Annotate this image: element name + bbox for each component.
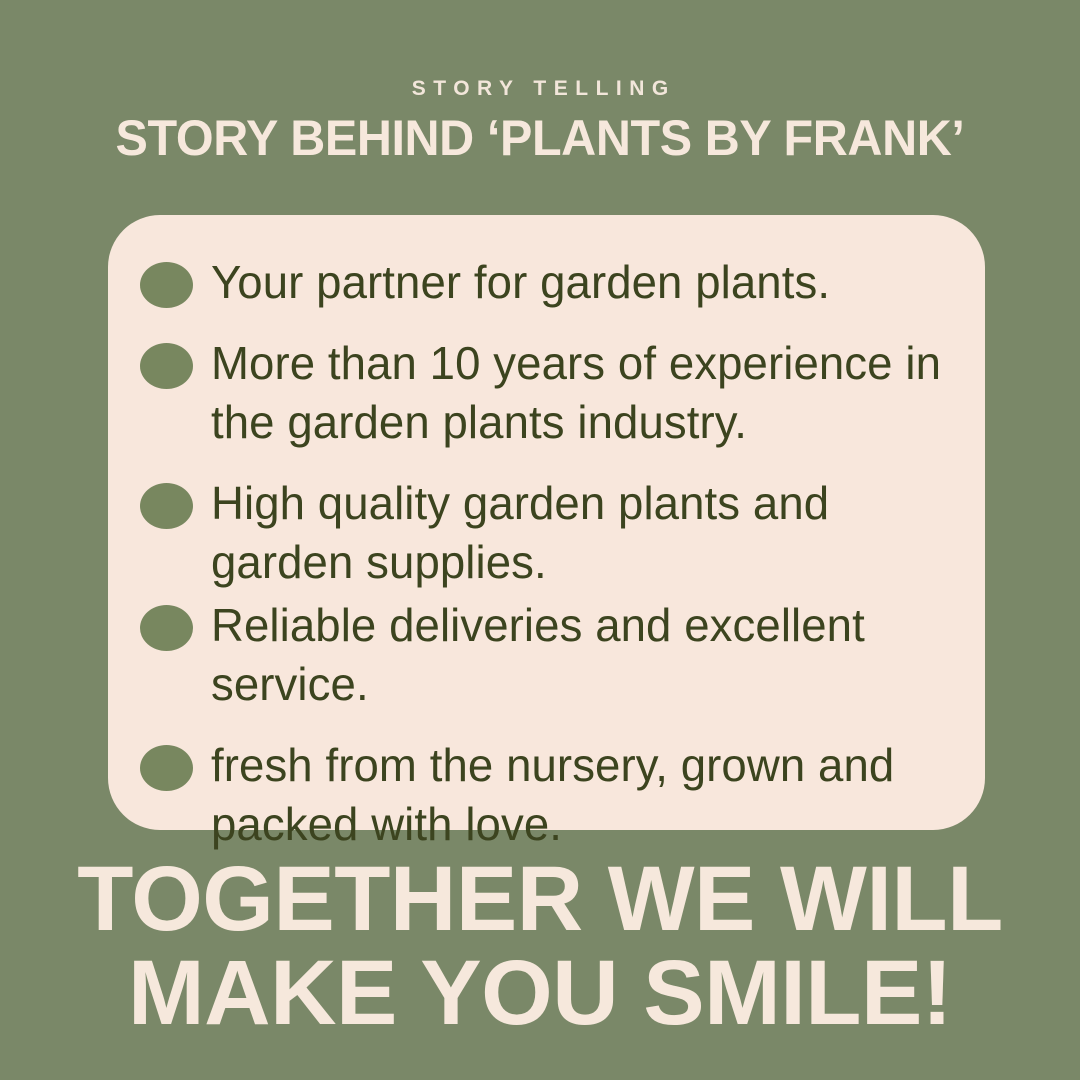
page-title: STORY BEHIND ‘PLANTS BY FRANK’ xyxy=(16,113,1064,164)
list-item: Reliable deliveries and excellent servic… xyxy=(124,596,965,714)
footer-headline-line-2: MAKE YOU SMILE! xyxy=(0,956,1080,1030)
bullet-dot-icon xyxy=(140,605,193,651)
footer-headline-line-1: TOGETHER WE WILL xyxy=(0,862,1080,936)
list-item-label: Your partner for garden plants. xyxy=(211,253,957,312)
list-item: Your partner for garden plants. xyxy=(124,253,965,312)
list-item-label: High quality garden plants and garden su… xyxy=(211,474,957,592)
bullet-dot-icon xyxy=(140,745,193,791)
benefits-card: Your partner for garden plants. More tha… xyxy=(108,215,985,830)
bullet-dot-icon xyxy=(140,262,193,308)
list-item-label: fresh from the nursery, grown and packed… xyxy=(211,736,957,854)
header-block: STORY TELLING STORY BEHIND ‘PLANTS BY FR… xyxy=(0,78,1080,164)
footer-headline: TOGETHER WE WILL MAKE YOU SMILE! xyxy=(0,862,1080,1030)
list-item-label: Reliable deliveries and excellent servic… xyxy=(211,596,957,714)
eyebrow-label: STORY TELLING xyxy=(0,78,1080,99)
list-item-label: More than 10 years of experience in the … xyxy=(211,334,957,452)
list-item: fresh from the nursery, grown and packed… xyxy=(124,736,965,854)
poster-canvas: STORY TELLING STORY BEHIND ‘PLANTS BY FR… xyxy=(0,0,1080,1080)
bullet-dot-icon xyxy=(140,483,193,529)
bullet-dot-icon xyxy=(140,343,193,389)
list-item: High quality garden plants and garden su… xyxy=(124,474,965,592)
benefits-list: Your partner for garden plants. More tha… xyxy=(124,253,965,854)
list-item: More than 10 years of experience in the … xyxy=(124,334,965,452)
